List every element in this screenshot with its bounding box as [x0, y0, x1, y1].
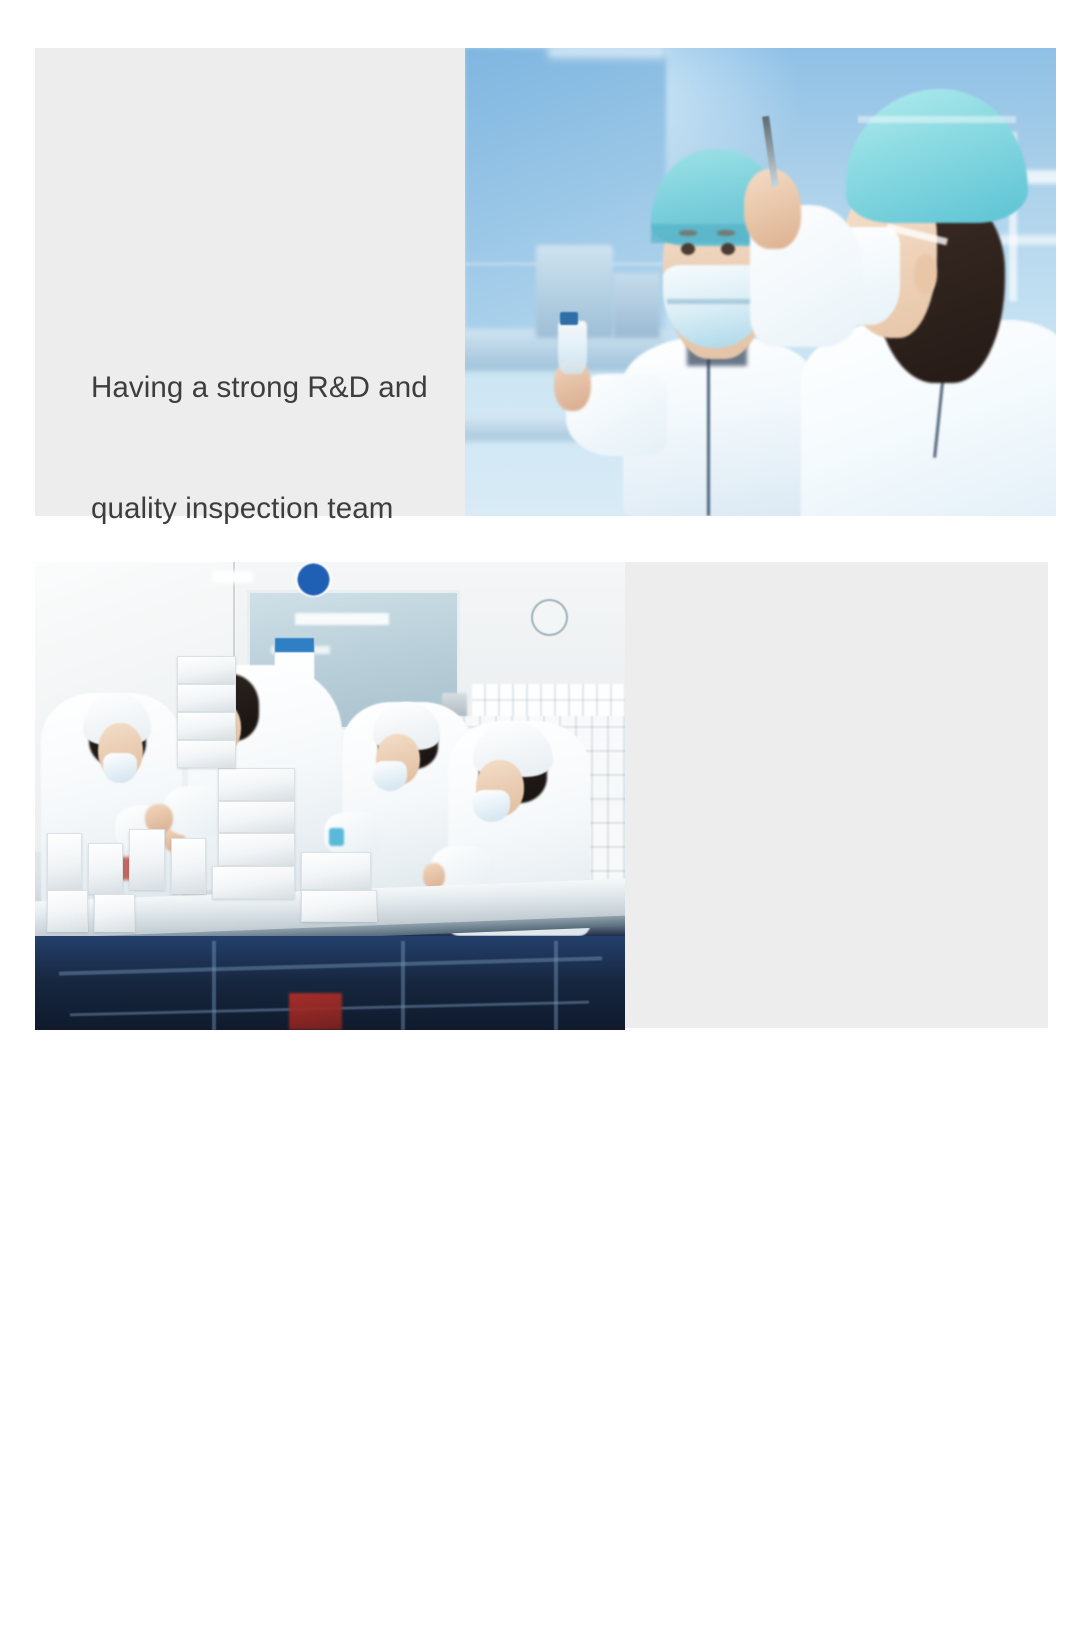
lab-coat-trim	[707, 351, 710, 516]
red-object-foreground	[289, 993, 342, 1030]
eye-left	[681, 243, 695, 255]
packing-box	[177, 656, 236, 684]
table-leg	[554, 941, 558, 1030]
packing-box	[212, 866, 295, 899]
packing-box	[177, 740, 236, 768]
packing-box	[47, 890, 88, 932]
warehouse-ceiling-light	[212, 571, 253, 582]
packing-box	[171, 838, 206, 894]
packing-box	[218, 801, 295, 834]
research-caption-line-2: quality inspection team	[91, 489, 491, 529]
window-light-strip	[295, 613, 389, 624]
face-mask-fold	[667, 299, 763, 305]
warehouse-packing-photo	[35, 562, 625, 1030]
worker-arm	[164, 786, 225, 835]
ear	[914, 254, 937, 294]
packing-box	[218, 833, 295, 866]
eyebrow-right	[717, 230, 735, 236]
lab-flask-cap	[560, 312, 578, 325]
research-caption-line-1: Having a strong R&D and	[91, 368, 491, 408]
packing-box	[177, 712, 236, 740]
packing-box	[301, 890, 378, 923]
eye-right	[721, 243, 735, 255]
eyebrow-left	[679, 230, 697, 236]
packing-box	[301, 852, 372, 889]
table-leg	[401, 941, 405, 1030]
face-mask-icon	[373, 761, 407, 790]
blue-glove-icon	[329, 828, 345, 846]
collage-canvas: Having a strong R&D and quality inspecti…	[0, 0, 1080, 1080]
packing-box	[94, 894, 135, 931]
packing-box	[47, 833, 82, 889]
packing-box	[218, 768, 295, 801]
warehouse-scene	[35, 562, 625, 1030]
packing-box	[88, 843, 123, 894]
lab-inspection-photo	[465, 48, 1056, 516]
packing-box	[129, 829, 164, 890]
teal-hairnet-icon	[846, 89, 1028, 222]
blue-circular-sign-icon	[295, 562, 333, 597]
hairnet-ridge	[858, 116, 1017, 123]
warehouse-text-panel: a warehouse distribution area a warehous…	[625, 562, 1048, 1028]
lab-scene	[465, 48, 1056, 516]
packing-box	[177, 684, 236, 712]
lab-flask	[558, 321, 586, 373]
wall-clock-icon	[531, 599, 568, 636]
table-leg	[212, 941, 216, 1030]
research-caption: Having a strong R&D and quality inspecti…	[91, 288, 491, 609]
lab-technician-profile	[778, 71, 1056, 516]
research-text-panel: Having a strong R&D and quality inspecti…	[35, 48, 465, 516]
lab-ceiling-light	[548, 48, 666, 62]
